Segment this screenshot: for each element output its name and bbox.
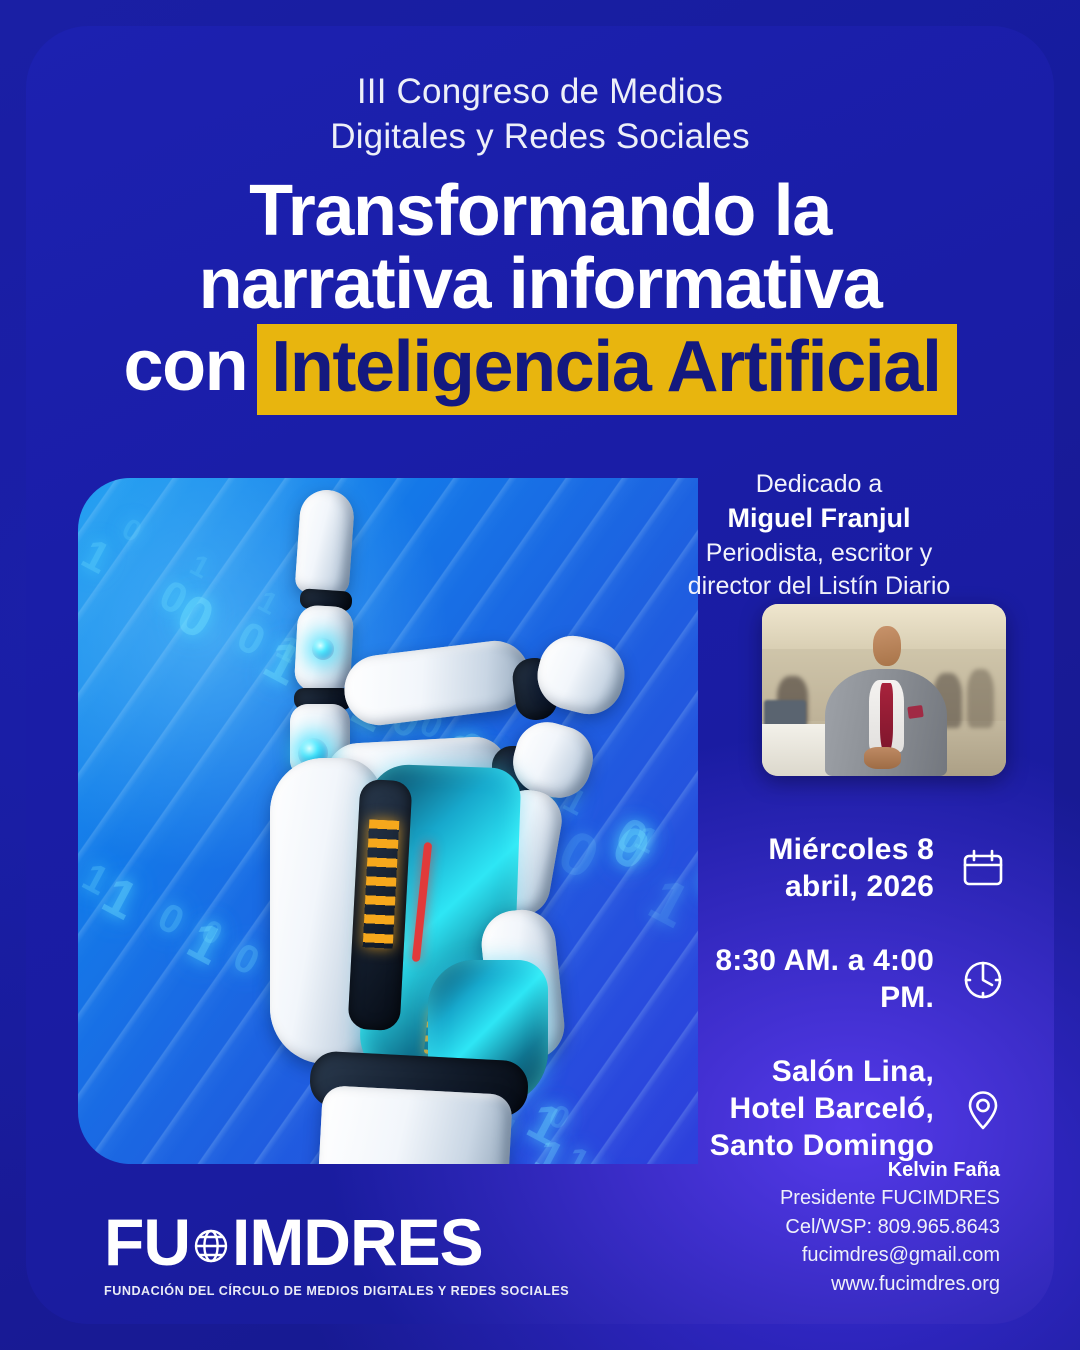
calendar-icon — [960, 846, 1006, 892]
contact-website: www.fucimdres.org — [780, 1270, 1000, 1298]
headline-prefix: con — [123, 324, 257, 415]
page-title: Transformando la narrativa informativa c… — [0, 175, 1080, 415]
logo-word-part-2: IMDRES — [232, 1209, 483, 1275]
headline-line-1: Transformando la — [0, 175, 1080, 248]
contact-phone: Cel/WSP: 809.965.8643 — [780, 1213, 1000, 1241]
contact-email: fucimdres@gmail.com — [780, 1241, 1000, 1269]
portrait-head — [873, 626, 901, 666]
contact-name: Kelvin Faña — [780, 1156, 1000, 1184]
logo-wordmark: FU IMDRES — [104, 1209, 484, 1275]
portrait-tie — [880, 683, 893, 752]
detail-row-location: Salón Lina, Hotel Barceló, Santo Domingo — [666, 1054, 1006, 1164]
location-pin-icon — [960, 1086, 1006, 1132]
headline-line-2: narrativa informativa — [0, 248, 1080, 321]
contact-block: Kelvin Faña Presidente FUCIMDRES Cel/WSP… — [780, 1156, 1000, 1298]
dedication-intro: Dedicado a — [654, 468, 984, 501]
detail-location-text: Salón Lina, Hotel Barceló, Santo Domingo — [710, 1054, 934, 1164]
dedication-role-line-2: director del Listín Diario — [654, 570, 984, 603]
detail-date-line-1: Miércoles 8 — [768, 832, 934, 869]
kicker-line-2: Digitales y Redes Sociales — [0, 115, 1080, 160]
poster-root: III Congreso de Medios Digitales y Redes… — [0, 0, 1080, 1350]
headline-line-3: conInteligencia Artificial — [0, 324, 1080, 415]
detail-location-line-2: Hotel Barceló, — [710, 1091, 934, 1128]
fucimdres-logo: FU IMDRES FUNDACIÓN DEL CÍRCULO DE MEDIO… — [104, 1209, 484, 1298]
globe-icon — [191, 1226, 231, 1266]
detail-location-line-1: Salón Lina, — [710, 1054, 934, 1091]
robotic-hand-graphic — [246, 490, 646, 1164]
clock-icon — [960, 957, 1006, 1003]
avatar — [762, 604, 1006, 776]
event-details: Miércoles 8 abril, 2026 8:30 AM. a 4:00 … — [666, 832, 1006, 1202]
detail-row-date: Miércoles 8 abril, 2026 — [666, 832, 1006, 905]
dedication-name: Miguel Franjul — [654, 501, 984, 537]
hero-image-panel: 0 1 0 1 1 01 0 0 1 0 10 1 1 0 1 01 1 0 0… — [78, 478, 698, 1164]
logo-tagline: FUNDACIÓN DEL CÍRCULO DE MEDIOS DIGITALE… — [104, 1284, 484, 1298]
portrait-pocket-square — [908, 705, 924, 719]
dedication-role-line-1: Periodista, escritor y — [654, 537, 984, 570]
detail-date-text: Miércoles 8 abril, 2026 — [768, 832, 934, 905]
portrait-bg-person-3 — [967, 669, 994, 727]
dedication-block: Dedicado a Miguel Franjul Periodista, es… — [654, 468, 984, 603]
logo-word-part-1: FU — [104, 1209, 190, 1275]
detail-date-line-2: abril, 2026 — [768, 869, 934, 906]
detail-row-time: 8:30 AM. a 4:00 PM. — [666, 943, 1006, 1016]
headline-highlight: Inteligencia Artificial — [257, 324, 956, 415]
portrait-hands — [864, 747, 901, 769]
detail-time-line-1: 8:30 AM. a 4:00 PM. — [666, 943, 934, 1016]
event-kicker: III Congreso de Medios Digitales y Redes… — [0, 70, 1080, 160]
contact-title: Presidente FUCIMDRES — [780, 1184, 1000, 1212]
kicker-line-1: III Congreso de Medios — [0, 70, 1080, 115]
detail-time-text: 8:30 AM. a 4:00 PM. — [666, 943, 934, 1016]
